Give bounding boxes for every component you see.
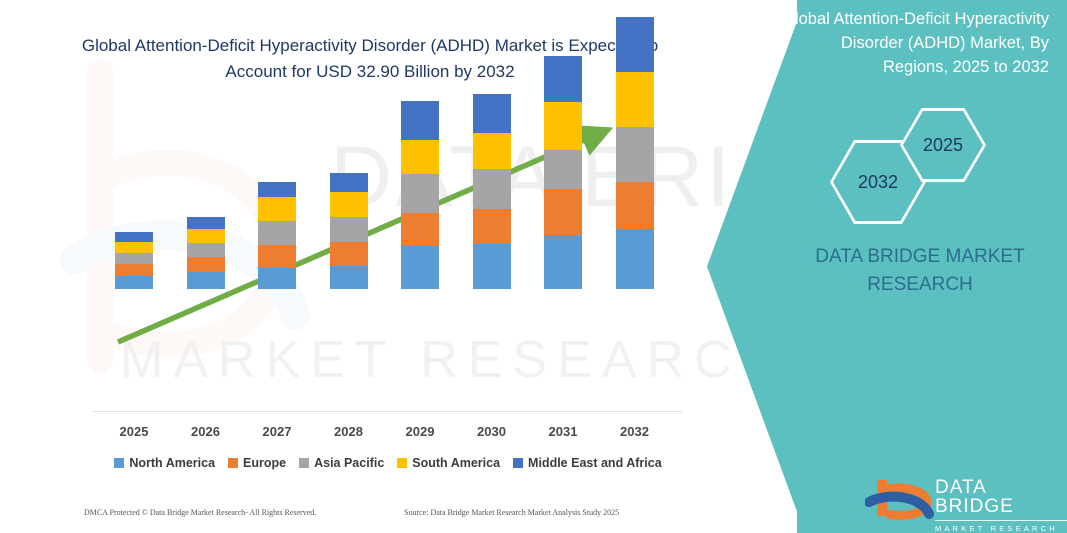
bar-segment [473, 209, 511, 244]
legend-label: Middle East and Africa [528, 456, 662, 470]
logo-secondary: MARKET RESEARCH [935, 520, 1067, 533]
legend-label: Europe [243, 456, 286, 470]
x-axis-label-2029: 2029 [390, 424, 450, 439]
bar-segment [187, 272, 225, 289]
bar-segment [330, 217, 368, 242]
bar-segment [544, 189, 582, 235]
panel-heading: Global Attention-Deficit Hyperactivity D… [781, 8, 1049, 80]
bar-segment [258, 245, 296, 268]
bar-segment [401, 101, 439, 140]
hexagon-2025-label: 2025 [903, 111, 983, 179]
bar-segment [616, 229, 654, 289]
bar-segment [616, 127, 654, 182]
bar-segment [115, 276, 153, 289]
bar-segment [401, 213, 439, 246]
bar-segment [115, 253, 153, 264]
bar-segment [473, 244, 511, 289]
legend-item: South America [397, 456, 500, 470]
bar-2031 [544, 0, 582, 411]
legend-swatch [228, 458, 238, 468]
bar-segment [544, 235, 582, 289]
bar-segment [544, 150, 582, 189]
bar-segment [115, 242, 153, 253]
bar-segment [258, 221, 296, 245]
bar-2026 [187, 0, 225, 411]
chart-plot-area: 20252026202720282029203020312032 [0, 0, 740, 533]
legend-label: North America [129, 456, 215, 470]
bar-segment [330, 266, 368, 289]
legend-swatch [114, 458, 124, 468]
x-axis-line [92, 411, 682, 412]
bar-segment [330, 242, 368, 266]
bar-2032 [616, 0, 654, 411]
legend-item: Middle East and Africa [513, 456, 662, 470]
bar-segment [616, 182, 654, 229]
legend-label: Asia Pacific [314, 456, 384, 470]
bar-segment [187, 229, 225, 243]
infographic-canvas: DATA BRIDGE MARKET RESEARCH Global Atten… [0, 0, 1067, 533]
panel-brand-text: DATA BRIDGE MARKET RESEARCH [790, 243, 1050, 298]
bar-segment [473, 133, 511, 169]
legend-swatch [299, 458, 309, 468]
bar-segment [473, 94, 511, 133]
x-axis-label-2027: 2027 [247, 424, 307, 439]
logo-primary: DATA BRIDGE [935, 478, 1067, 516]
bar-segment [187, 257, 225, 272]
legend-item: North America [114, 456, 215, 470]
bar-segment [616, 72, 654, 127]
bar-segment [258, 268, 296, 289]
bar-2027 [258, 0, 296, 411]
legend-label: South America [412, 456, 500, 470]
bar-segment [258, 182, 296, 197]
bar-segment [544, 56, 582, 102]
bar-segment [616, 17, 654, 72]
bar-segment [187, 217, 225, 229]
bar-segment [330, 192, 368, 217]
bar-2028 [330, 0, 368, 411]
bar-2030 [473, 0, 511, 411]
bar-segment [473, 169, 511, 209]
bar-2025 [115, 0, 153, 411]
x-axis-label-2031: 2031 [533, 424, 593, 439]
bar-segment [401, 174, 439, 213]
chart-legend: North AmericaEuropeAsia PacificSouth Ame… [98, 456, 678, 470]
bar-segment [258, 197, 296, 221]
bar-segment [115, 264, 153, 276]
x-axis-label-2030: 2030 [462, 424, 522, 439]
bar-segment [115, 232, 153, 242]
legend-swatch [513, 458, 523, 468]
x-axis-label-2032: 2032 [605, 424, 665, 439]
logo-wordmark: DATA BRIDGE MARKET RESEARCH [935, 478, 1067, 533]
x-axis-label-2025: 2025 [104, 424, 164, 439]
footer-copyright: DMCA Protected © Data Bridge Market Rese… [84, 508, 316, 517]
legend-item: Europe [228, 456, 286, 470]
bar-segment [401, 140, 439, 174]
footer-source: Source: Data Bridge Market Research Mark… [404, 508, 619, 517]
legend-swatch [397, 458, 407, 468]
bar-segment [330, 173, 368, 192]
bar-segment [544, 102, 582, 150]
legend-item: Asia Pacific [299, 456, 384, 470]
bar-2029 [401, 0, 439, 411]
bar-segment [187, 243, 225, 257]
x-axis-label-2028: 2028 [319, 424, 379, 439]
bar-segment [401, 246, 439, 289]
x-axis-label-2026: 2026 [176, 424, 236, 439]
